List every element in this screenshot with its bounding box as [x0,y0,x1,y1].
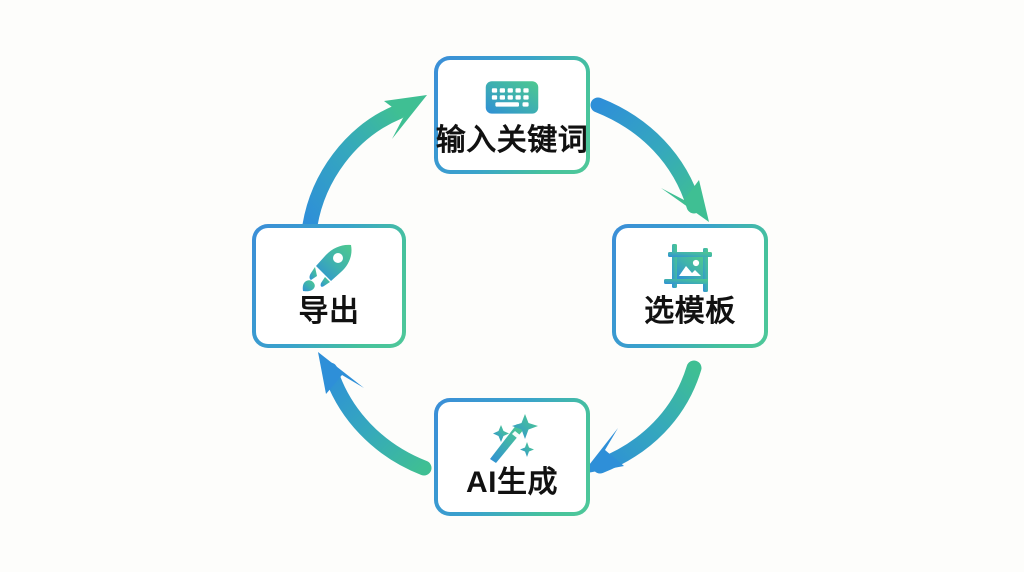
arrow-generate-to-export [318,352,424,468]
magic-wand-icon [484,413,540,465]
arrow-template-to-generate [582,368,694,474]
step-card-export[interactable]: 导出 [252,224,406,348]
step-card-select-template[interactable]: 选模板 [612,224,768,348]
arrow-input-to-template [598,105,709,222]
step-label-input-keyword: 输入关键词 [436,125,589,157]
step-card-ai-generate[interactable]: AI生成 [434,398,590,516]
diagram-canvas: 输入关键词 选模板 [0,0,1024,572]
step-label-select-template: 选模板 [644,296,736,328]
image-crop-icon [662,242,718,294]
arrow-export-to-input [310,95,427,225]
step-label-ai-generate: AI生成 [466,467,558,499]
rocket-icon [301,242,357,294]
step-card-input-keyword[interactable]: 输入关键词 [434,56,590,174]
step-label-export: 导出 [299,296,360,328]
keyboard-icon [484,71,540,123]
